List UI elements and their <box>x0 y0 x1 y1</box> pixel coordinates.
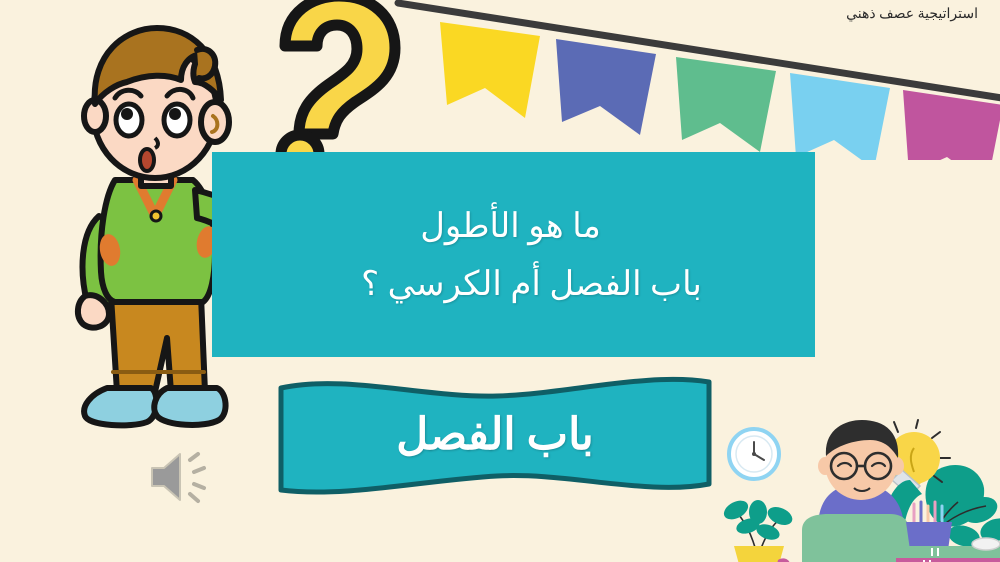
study-scene-illustration <box>718 418 1000 562</box>
flag-magenta <box>903 90 1000 160</box>
potted-plant-icon <box>721 497 795 562</box>
laptop-icon <box>802 514 910 562</box>
flag-indigo <box>556 39 656 135</box>
right-shoe <box>154 388 225 425</box>
speaker-icon[interactable] <box>144 446 220 508</box>
open-mouth <box>140 149 154 171</box>
answer-text: باب الفصل <box>275 372 715 500</box>
right-ear <box>201 102 229 142</box>
slide-canvas: استراتيجية عصف ذهني <box>0 0 1000 562</box>
question-panel: ما هو الأطول باب الفصل أم الكرسي ؟ <box>212 152 815 357</box>
flag-yellow <box>440 22 540 118</box>
wall-clock-icon <box>729 429 779 479</box>
question-line-1: ما هو الأطول <box>420 206 601 246</box>
left-shoe <box>84 388 156 425</box>
answer-ribbon: باب الفصل <box>275 372 715 500</box>
left-hand <box>78 295 109 327</box>
flag-green <box>676 57 776 152</box>
question-line-2: باب الفصل أم الكرسي ؟ <box>361 264 702 304</box>
flag-sky <box>790 73 890 160</box>
pants <box>111 296 205 392</box>
slide-header-label: استراتيجية عصف ذهني <box>846 6 978 23</box>
